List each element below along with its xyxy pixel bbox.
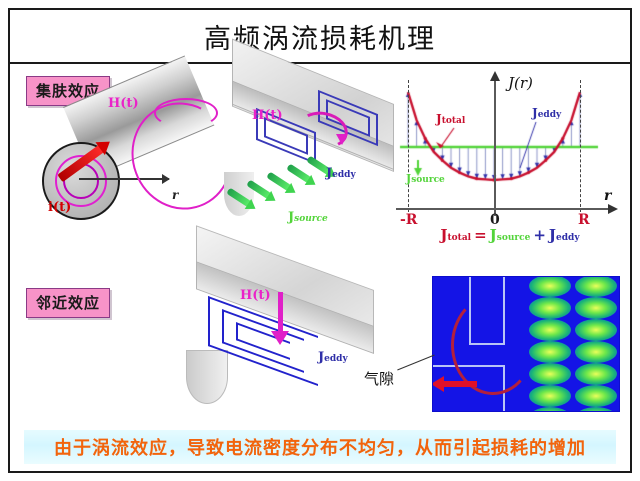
- chart-annotation-j-eddy: Jeddy: [532, 106, 561, 120]
- current-density-equation: Jtotal=Jsource+Jeddy: [392, 226, 628, 244]
- eq-j-total: Jtotal: [440, 226, 471, 244]
- slab-h-field-arrow-tip-icon: [336, 134, 348, 145]
- prox-eddy-label-sub: eddy: [324, 354, 348, 364]
- slide-root: 高频涡流损耗机理 集肤效应 邻近效应 H(t) i(t) r H(t) Jedd…: [0, 0, 640, 481]
- conductor-bead: [575, 407, 617, 412]
- page-title: 高频涡流损耗机理: [10, 10, 630, 62]
- source-current-arrow-3-icon: [266, 171, 292, 191]
- conductor-bead: [529, 385, 571, 407]
- summary-banner: 由于涡流效应，导致电流密度分布不均匀，从而引起损耗的增加: [24, 430, 616, 464]
- chart-plot-canvas: [392, 76, 628, 224]
- eq-j-total-sub: total: [448, 233, 472, 243]
- conductor-bead: [575, 319, 617, 341]
- chart-j-total-sub: total: [442, 116, 466, 126]
- h-field-loop-top-icon: [154, 98, 218, 128]
- chart-annotation-j-total: Jtotal: [436, 112, 465, 126]
- bar-rounded-end: [186, 350, 228, 404]
- slab-h-field-label: H(t): [252, 108, 283, 123]
- conductor-bead: [529, 341, 571, 363]
- chart-dashed-line-right: [580, 80, 581, 212]
- chart-annotation-j-source: Jsource: [406, 172, 445, 185]
- title-divider: [10, 62, 630, 64]
- current-density-chart: J(r) r -R 0 R Jtotal Jsource Jeddy: [392, 76, 628, 224]
- summary-banner-text: 由于涡流效应，导致电流密度分布不均匀，从而引起损耗的增加: [54, 434, 586, 460]
- conductor-bead: [529, 407, 571, 412]
- airgap-label: 气隙: [364, 368, 394, 389]
- conductor-bead: [529, 319, 571, 341]
- chart-j-eddy-sub: eddy: [538, 110, 562, 120]
- conductor-bead: [529, 297, 571, 319]
- skin-radius-label: r: [172, 188, 178, 202]
- slab-eddy-label-sub: eddy: [332, 170, 356, 180]
- flux-path-arrow-tip-icon: [443, 381, 477, 387]
- source-current-arrow-4-icon: [286, 163, 312, 183]
- conductor-column-2: [575, 276, 617, 412]
- chart-x-axis-label: r: [604, 188, 611, 204]
- eq-j-eddy: Jeddy: [549, 226, 580, 244]
- section-tag-proximity-effect[interactable]: 邻近效应: [26, 288, 110, 318]
- flux-path-arrow-icon: [451, 295, 535, 395]
- eq-j-source-sub: source: [497, 233, 531, 243]
- eq-j-source: Jsource: [490, 226, 531, 244]
- eq-j-eddy-main: J: [549, 226, 556, 244]
- chart-dashed-line-left: [408, 80, 409, 212]
- proximity-h-field-arrow-icon: [278, 292, 283, 332]
- eq-j-eddy-sub: eddy: [556, 233, 580, 243]
- chart-x-axis: [396, 208, 610, 210]
- conductor-bead: [529, 276, 571, 297]
- conductor-bead: [575, 363, 617, 385]
- slab-source-current-label: Jsource: [288, 210, 328, 225]
- slab-eddy-current-label: Jeddy: [326, 166, 356, 181]
- conductor-bead: [575, 341, 617, 363]
- slab-source-label-sub: source: [294, 214, 328, 224]
- conductor-bead: [575, 385, 617, 407]
- proximity-effect-bar-diagram: [196, 286, 396, 414]
- conductor-bead: [575, 297, 617, 319]
- eq-equals: =: [471, 226, 490, 244]
- conductor-bead: [575, 276, 617, 297]
- conductor-column-1: [529, 276, 571, 412]
- proximity-eddy-current-label: Jeddy: [318, 350, 348, 365]
- skin-current-label: i(t): [48, 200, 71, 215]
- conductor-bead: [529, 363, 571, 385]
- fea-simulation-image: [432, 276, 620, 412]
- chart-y-axis-label: J(r): [508, 74, 533, 92]
- eq-j-source-main: J: [490, 226, 497, 244]
- proximity-h-field-label: H(t): [240, 288, 271, 303]
- skin-h-field-label: H(t): [108, 96, 139, 111]
- eq-plus: +: [530, 226, 549, 244]
- eq-j-total-main: J: [440, 226, 447, 244]
- chart-j-source-sub: source: [411, 175, 445, 185]
- chart-y-axis: [494, 80, 496, 216]
